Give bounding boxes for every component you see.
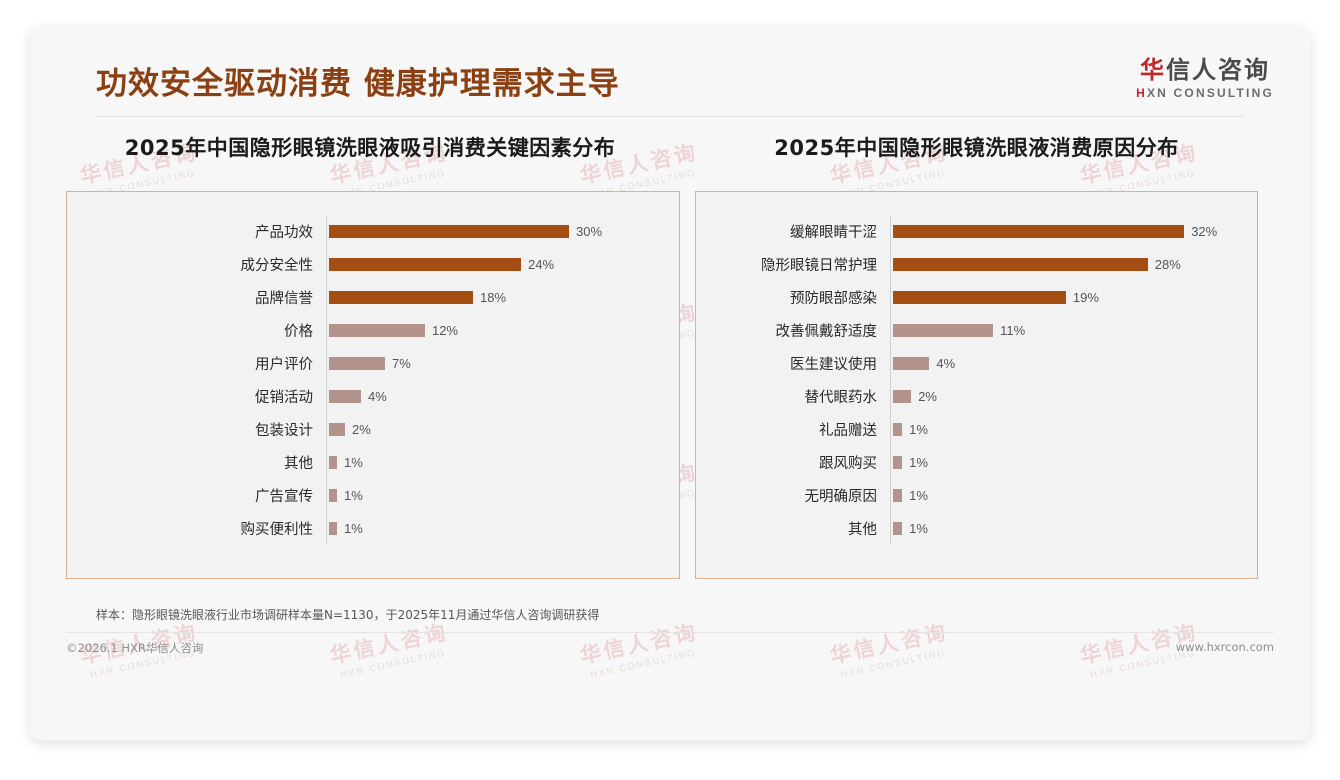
bar-track: 7% <box>326 347 671 380</box>
company-logo: 华信人咨询 HXN CONSULTING <box>1136 57 1274 100</box>
bar-value-label: 32% <box>1191 224 1217 239</box>
bar-track: 1% <box>890 512 1249 545</box>
bar <box>329 522 337 535</box>
bar-track: 1% <box>890 446 1249 479</box>
bar-track: 1% <box>890 479 1249 512</box>
chart-title-left: 2025年中国隐形眼镜洗眼液吸引消费关键因素分布 <box>60 132 680 162</box>
bar-row: 促销活动4% <box>67 380 671 413</box>
bar-category-label: 改善佩戴舒适度 <box>696 320 890 341</box>
footer-divider <box>66 632 1274 633</box>
slide-footer: ©2026.1 HXR华信人咨询 www.hxrcon.com <box>66 640 1274 656</box>
bar-track: 1% <box>326 446 671 479</box>
bar-track: 4% <box>890 347 1249 380</box>
bar-category-label: 跟风购买 <box>696 452 890 473</box>
bar <box>329 390 361 403</box>
bar-value-label: 2% <box>352 422 371 437</box>
bar-category-label: 促销活动 <box>67 386 326 407</box>
bar-track: 1% <box>326 512 671 545</box>
title-divider <box>96 116 1244 117</box>
bar <box>329 357 385 370</box>
bar-category-label: 用户评价 <box>67 353 326 374</box>
bar-track: 1% <box>890 413 1249 446</box>
bar <box>893 357 929 370</box>
bar-value-label: 11% <box>1000 323 1025 338</box>
bar-rows-left: 产品功效30%成分安全性24%品牌信誉18%价格12%用户评价7%促销活动4%包… <box>67 215 671 545</box>
bar <box>329 324 425 337</box>
bar <box>893 522 902 535</box>
bar-category-label: 隐形眼镜日常护理 <box>696 254 890 275</box>
bar <box>329 456 337 469</box>
bar-row: 缓解眼睛干涩32% <box>696 215 1249 248</box>
chart-block-right: 2025年中国隐形眼镜洗眼液消费原因分布 缓解眼睛干涩32%隐形眼镜日常护理28… <box>695 132 1258 579</box>
bar-category-label: 品牌信誉 <box>67 287 326 308</box>
bar-value-label: 1% <box>909 422 928 437</box>
chart-title-right: 2025年中国隐形眼镜洗眼液消费原因分布 <box>695 132 1258 162</box>
bar <box>893 225 1184 238</box>
bar-row: 产品功效30% <box>67 215 671 248</box>
bar-track: 18% <box>326 281 671 314</box>
bar-row: 跟风购买1% <box>696 446 1249 479</box>
slide: 华信人咨询HXN CONSULTING华信人咨询HXN CONSULTING华信… <box>30 28 1310 740</box>
bar-track: 28% <box>890 248 1249 281</box>
bar-row: 无明确原因1% <box>696 479 1249 512</box>
slide-header: 功效安全驱动消费 健康护理需求主导 华信人咨询 HXN CONSULTING <box>30 28 1310 132</box>
bar <box>893 291 1066 304</box>
bar-row: 其他1% <box>696 512 1249 545</box>
bar <box>893 324 993 337</box>
bar-value-label: 4% <box>368 389 387 404</box>
bar-track: 1% <box>326 479 671 512</box>
bar-row: 隐形眼镜日常护理28% <box>696 248 1249 281</box>
bar-track: 24% <box>326 248 671 281</box>
logo-chinese-rest: 信人咨询 <box>1166 56 1270 84</box>
bar-category-label: 医生建议使用 <box>696 353 890 374</box>
bar-value-label: 1% <box>909 455 928 470</box>
bar <box>893 423 902 436</box>
chart-panel-right: 缓解眼睛干涩32%隐形眼镜日常护理28%预防眼部感染19%改善佩戴舒适度11%医… <box>695 191 1258 579</box>
bar <box>893 390 911 403</box>
bar <box>893 456 902 469</box>
page-title: 功效安全驱动消费 健康护理需求主导 <box>96 58 620 103</box>
bar-category-label: 其他 <box>67 452 326 473</box>
bar-track: 32% <box>890 215 1249 248</box>
bar-value-label: 1% <box>909 488 928 503</box>
bar-category-label: 其他 <box>696 518 890 539</box>
bar <box>329 291 473 304</box>
bar-row: 医生建议使用4% <box>696 347 1249 380</box>
bar-track: 11% <box>890 314 1249 347</box>
bar-value-label: 1% <box>344 488 363 503</box>
bar-rows-right: 缓解眼睛干涩32%隐形眼镜日常护理28%预防眼部感染19%改善佩戴舒适度11%医… <box>696 215 1249 545</box>
copyright-text: ©2026.1 HXR华信人咨询 <box>66 640 203 656</box>
bar-category-label: 购买便利性 <box>67 518 326 539</box>
bar-category-label: 缓解眼睛干涩 <box>696 221 890 242</box>
logo-chinese: 华信人咨询 <box>1136 57 1274 83</box>
bar <box>329 258 521 271</box>
bar-value-label: 1% <box>344 455 363 470</box>
logo-english-rest: XN CONSULTING <box>1147 86 1274 100</box>
bar-track: 2% <box>326 413 671 446</box>
bar-track: 4% <box>326 380 671 413</box>
bar-track: 12% <box>326 314 671 347</box>
bar-row: 用户评价7% <box>67 347 671 380</box>
bar-category-label: 成分安全性 <box>67 254 326 275</box>
bar-category-label: 包装设计 <box>67 419 326 440</box>
chart-panel-left: 产品功效30%成分安全性24%品牌信誉18%价格12%用户评价7%促销活动4%包… <box>66 191 680 579</box>
bar-value-label: 24% <box>528 257 554 272</box>
bar-row: 品牌信誉18% <box>67 281 671 314</box>
bar-row: 包装设计2% <box>67 413 671 446</box>
bar-track: 30% <box>326 215 671 248</box>
logo-english-first-char: H <box>1136 86 1147 100</box>
bar <box>329 225 569 238</box>
bar-track: 2% <box>890 380 1249 413</box>
bar-category-label: 广告宣传 <box>67 485 326 506</box>
bar-value-label: 1% <box>909 521 928 536</box>
bar <box>893 489 902 502</box>
logo-english: HXN CONSULTING <box>1136 86 1274 100</box>
bar-track: 19% <box>890 281 1249 314</box>
bar-row: 改善佩戴舒适度11% <box>696 314 1249 347</box>
bar-category-label: 预防眼部感染 <box>696 287 890 308</box>
bar-row: 广告宣传1% <box>67 479 671 512</box>
bar-value-label: 30% <box>576 224 602 239</box>
bar-value-label: 1% <box>344 521 363 536</box>
source-note: 样本：隐形眼镜洗眼液行业市场调研样本量N=1130，于2025年11月通过华信人… <box>96 606 599 623</box>
bar-row: 其他1% <box>67 446 671 479</box>
bar-row: 预防眼部感染19% <box>696 281 1249 314</box>
bar <box>329 423 345 436</box>
bar-value-label: 12% <box>432 323 458 338</box>
bar-value-label: 28% <box>1155 257 1181 272</box>
bar-row: 价格12% <box>67 314 671 347</box>
bar-row: 替代眼药水2% <box>696 380 1249 413</box>
bar-value-label: 2% <box>918 389 937 404</box>
bar-category-label: 礼品赠送 <box>696 419 890 440</box>
bar-category-label: 无明确原因 <box>696 485 890 506</box>
logo-chinese-first-char: 华 <box>1140 56 1166 84</box>
bar-value-label: 18% <box>480 290 506 305</box>
bar-row: 礼品赠送1% <box>696 413 1249 446</box>
bar-category-label: 替代眼药水 <box>696 386 890 407</box>
bar-category-label: 价格 <box>67 320 326 341</box>
bar-row: 成分安全性24% <box>67 248 671 281</box>
bar <box>893 258 1148 271</box>
website-link[interactable]: www.hxrcon.com <box>1176 640 1274 656</box>
chart-block-left: 2025年中国隐形眼镜洗眼液吸引消费关键因素分布 产品功效30%成分安全性24%… <box>66 132 680 579</box>
bar-value-label: 4% <box>936 356 955 371</box>
bar-row: 购买便利性1% <box>67 512 671 545</box>
bar-value-label: 7% <box>392 356 411 371</box>
bar-value-label: 19% <box>1073 290 1099 305</box>
bar-category-label: 产品功效 <box>67 221 326 242</box>
bar <box>329 489 337 502</box>
